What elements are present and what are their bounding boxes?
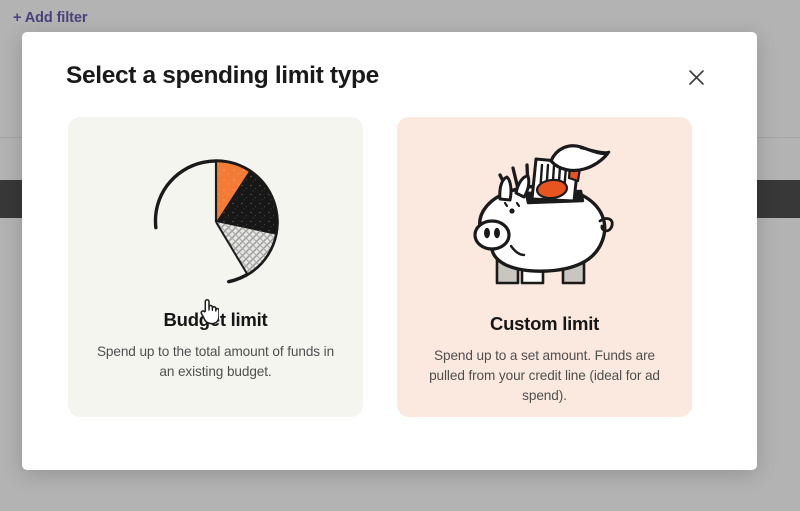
custom-limit-card[interactable]: Custom limit Spend up to a set amount. F…	[397, 117, 692, 417]
custom-limit-title: Custom limit	[490, 313, 599, 335]
limit-type-card-grid: Budget limit Spend up to the total amoun…	[68, 117, 713, 417]
modal-header: Select a spending limit type	[22, 32, 757, 118]
budget-limit-title: Budget limit	[164, 309, 268, 331]
budget-limit-card[interactable]: Budget limit Spend up to the total amoun…	[68, 117, 363, 417]
custom-limit-description: Spend up to a set amount. Funds are pull…	[422, 346, 667, 406]
piggy-bank-illustration	[445, 137, 645, 307]
screen-root: + Add filter Select a spending limit typ…	[0, 0, 800, 511]
budget-limit-description: Spend up to the total amount of funds in…	[93, 342, 338, 382]
close-button[interactable]	[683, 64, 709, 90]
modal-title: Select a spending limit type	[66, 62, 379, 90]
close-icon	[688, 69, 705, 86]
spending-limit-type-modal: Select a spending limit type	[22, 32, 757, 470]
pie-chart-illustration	[116, 137, 316, 307]
